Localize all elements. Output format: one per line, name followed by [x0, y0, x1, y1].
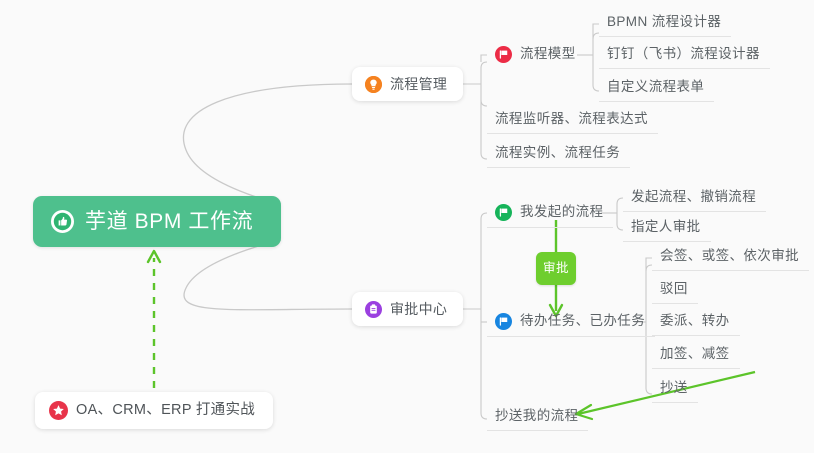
- node-label: 委派、转办: [660, 314, 730, 329]
- branch-approval-center[interactable]: 审批中心: [352, 292, 463, 326]
- node-todo-done-tasks[interactable]: 待办任务、已办任务: [487, 309, 655, 337]
- mindmap-canvas: 芋道 BPM 工作流 流程管理 流程模型 BPMN 流程设计器 钉钉（飞书: [0, 0, 814, 453]
- node-label: 发起流程、撤销流程: [631, 190, 756, 205]
- flag-icon: [495, 204, 512, 221]
- node-label: 流程模型: [520, 47, 576, 62]
- node-bpmn-designer[interactable]: BPMN 流程设计器: [599, 11, 731, 37]
- node-label: 流程监听器、流程表达式: [495, 112, 648, 127]
- wire-root-to-process-management: [183, 84, 352, 204]
- arrow-note-head: [148, 251, 160, 262]
- node-add-remove-sign[interactable]: 加签、减签: [652, 343, 740, 369]
- node-label: 待办任务、已办任务: [520, 314, 645, 329]
- node-label: BPMN 流程设计器: [607, 15, 721, 30]
- branch-label: 审批中心: [390, 302, 447, 316]
- clipboard-icon: [365, 301, 382, 318]
- node-label: 指定人审批: [631, 220, 701, 235]
- node-my-started-process[interactable]: 我发起的流程: [487, 200, 613, 228]
- node-custom-process-form[interactable]: 自定义流程表单: [599, 76, 714, 102]
- node-label: 加签、减签: [660, 347, 730, 362]
- node-label: 驳回: [660, 282, 688, 297]
- node-cc-to-me-process[interactable]: 抄送我的流程: [487, 405, 588, 431]
- note-card[interactable]: OA、CRM、ERP 打通实战: [35, 392, 273, 429]
- branch-label: 流程管理: [390, 77, 447, 91]
- node-label: 抄送我的流程: [495, 409, 578, 424]
- node-dingtalk-feishu-designer[interactable]: 钉钉（飞书）流程设计器: [599, 43, 770, 69]
- node-label: 我发起的流程: [520, 205, 603, 220]
- root-node[interactable]: 芋道 BPM 工作流: [33, 196, 281, 247]
- node-reject[interactable]: 驳回: [652, 278, 698, 304]
- wire-root-to-approval-center: [184, 240, 352, 310]
- node-process-instance-task[interactable]: 流程实例、流程任务: [487, 142, 630, 168]
- badge-label: 审批: [543, 262, 569, 275]
- node-assignee-approval[interactable]: 指定人审批: [623, 216, 711, 242]
- badge-approve[interactable]: 审批: [536, 252, 576, 285]
- node-process-listener[interactable]: 流程监听器、流程表达式: [487, 108, 658, 134]
- node-label: 抄送: [660, 381, 688, 396]
- node-delegate-transfer[interactable]: 委派、转办: [652, 310, 740, 336]
- note-label: OA、CRM、ERP 打通实战: [76, 403, 255, 418]
- node-label: 钉钉（飞书）流程设计器: [607, 47, 760, 62]
- lightbulb-icon: [365, 76, 382, 93]
- node-cc[interactable]: 抄送: [652, 377, 698, 403]
- root-label: 芋道 BPM 工作流: [85, 211, 253, 232]
- node-process-model[interactable]: 流程模型: [487, 42, 586, 69]
- thumbs-up-icon: [51, 210, 74, 233]
- node-label: 会签、或签、依次审批: [660, 249, 799, 264]
- star-icon: [49, 401, 68, 420]
- flag-icon: [495, 313, 512, 330]
- branch-process-management[interactable]: 流程管理: [352, 67, 463, 101]
- node-label: 流程实例、流程任务: [495, 146, 620, 161]
- flag-icon: [495, 46, 512, 63]
- node-start-cancel-process[interactable]: 发起流程、撤销流程: [623, 186, 766, 212]
- node-label: 自定义流程表单: [607, 80, 704, 95]
- node-countersign[interactable]: 会签、或签、依次审批: [652, 245, 809, 271]
